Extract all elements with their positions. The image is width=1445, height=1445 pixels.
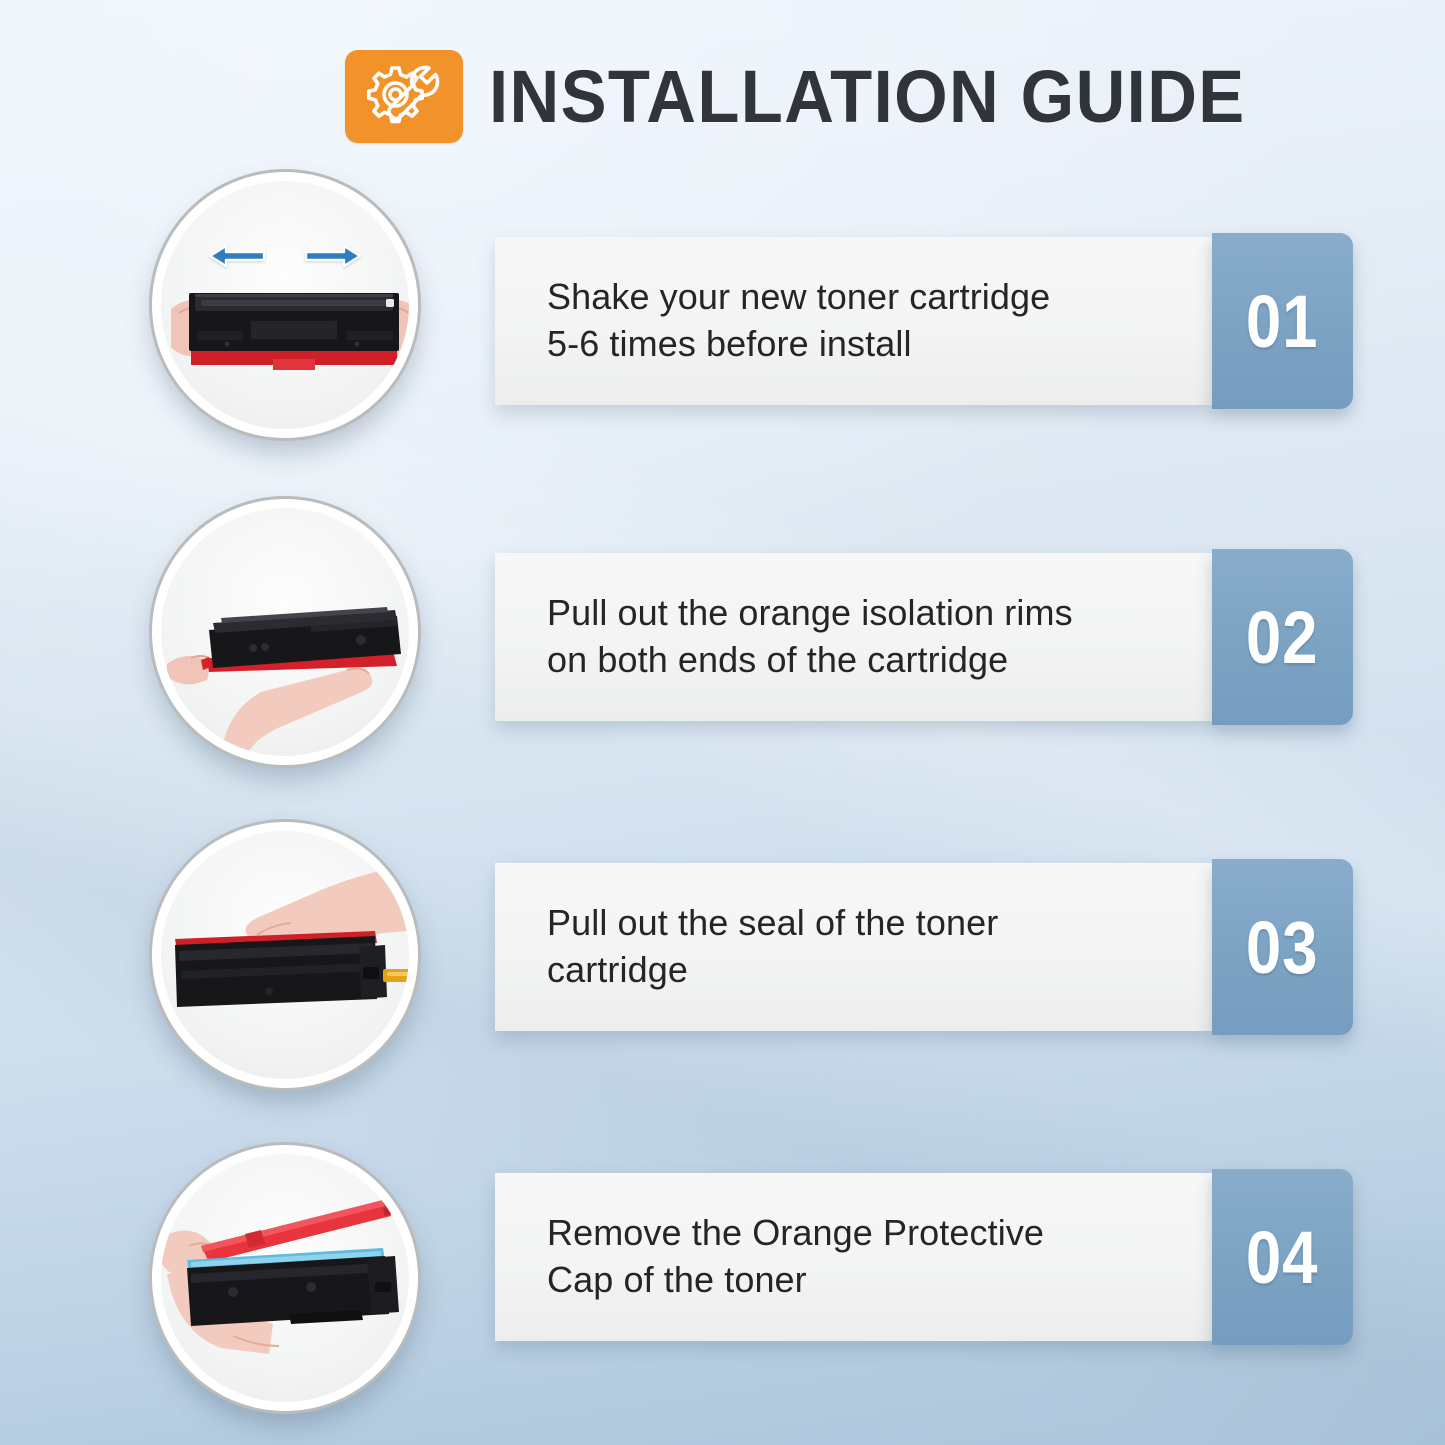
step-1-number-badge: 01: [1212, 233, 1353, 409]
step-4-card: Remove the Orange Protective Cap of the …: [495, 1173, 1212, 1341]
step-2-card: Pull out the orange isolation rims on bo…: [495, 553, 1212, 721]
steps-list: Shake your new toner cartridge 5-6 times…: [0, 0, 1445, 1445]
step-3-number: 03: [1246, 905, 1319, 990]
step-1-shake-cartridge-photo: [152, 172, 418, 438]
step-3-card: Pull out the seal of the toner cartridge: [495, 863, 1212, 1031]
step-4-remove-protective-cap-photo: [152, 1145, 418, 1411]
step-2-number: 02: [1246, 595, 1319, 680]
cartridge-artwork: [161, 508, 409, 756]
step-2-text: Pull out the orange isolation rims on bo…: [495, 590, 1089, 684]
step-3-pull-seal-photo: [152, 822, 418, 1088]
step-1-number: 01: [1246, 279, 1319, 364]
step-3-number-badge: 03: [1212, 859, 1353, 1035]
step-1-text: Shake your new toner cartridge 5-6 times…: [495, 274, 1066, 368]
step-2-number-badge: 02: [1212, 549, 1353, 725]
cartridge-artwork: [161, 1154, 409, 1402]
step-4-text: Remove the Orange Protective Cap of the …: [495, 1210, 1060, 1304]
cartridge-artwork: [161, 831, 409, 1079]
step-1-card: Shake your new toner cartridge 5-6 times…: [495, 237, 1212, 405]
step-4-number-badge: 04: [1212, 1169, 1353, 1345]
step-4-number: 04: [1246, 1215, 1319, 1300]
step-3-text: Pull out the seal of the toner cartridge: [495, 900, 1014, 994]
step-2-pull-isolation-rims-photo: [152, 499, 418, 765]
cartridge-artwork: [161, 181, 409, 429]
